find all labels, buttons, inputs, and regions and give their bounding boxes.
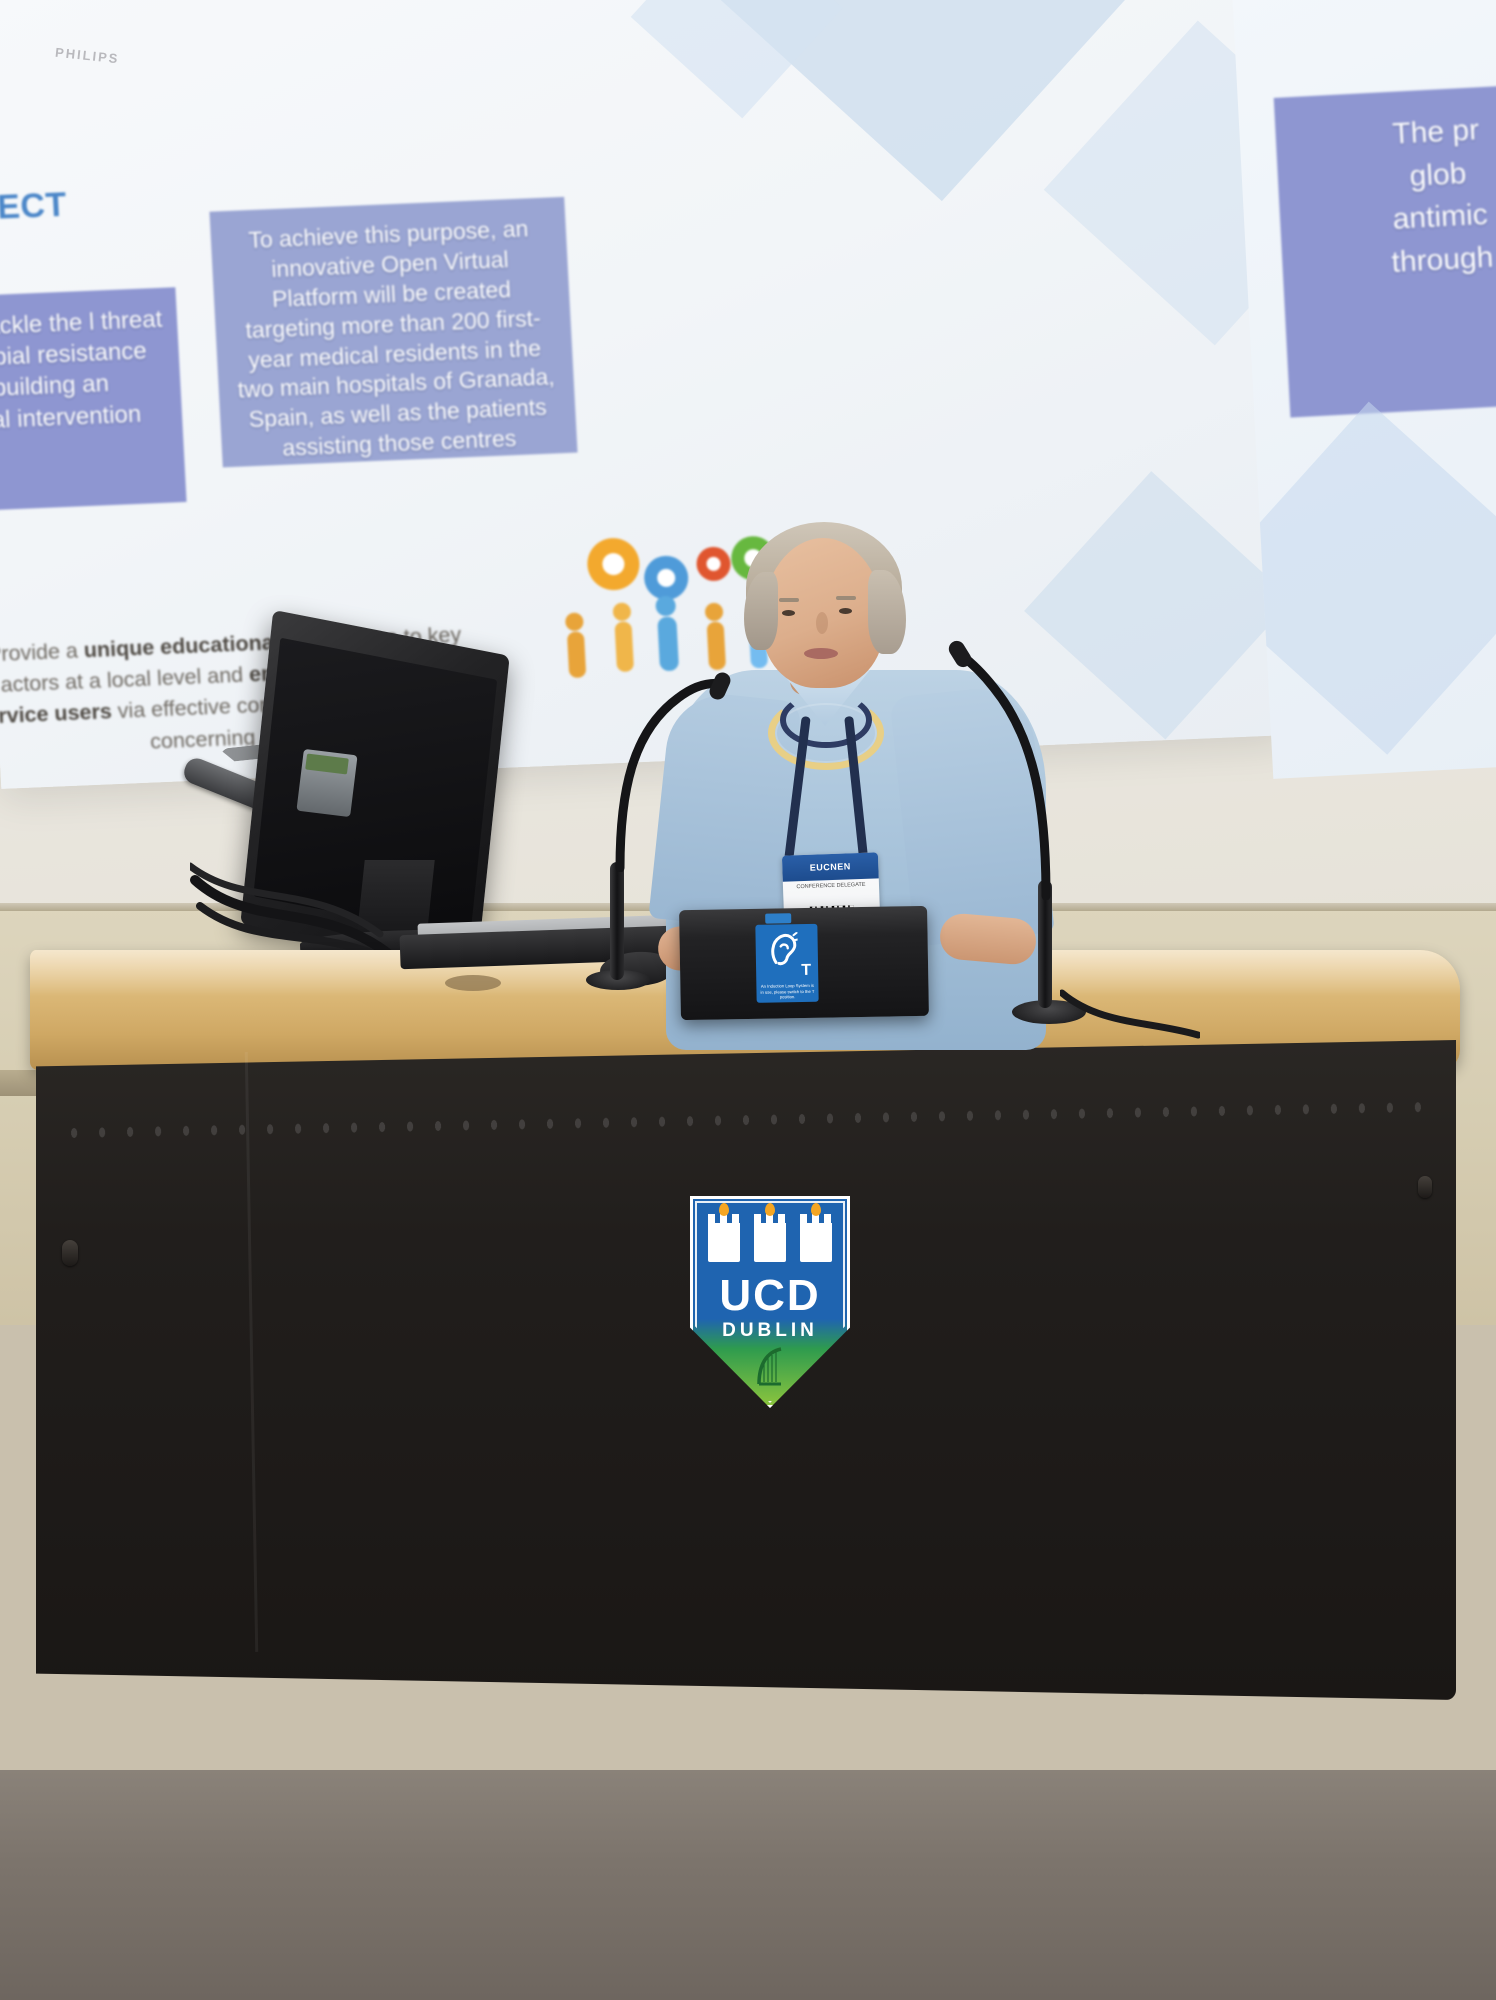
harp-icon [753, 1346, 787, 1386]
presenter-eye-left [782, 610, 795, 616]
flame-icon [719, 1203, 729, 1216]
crest-tower-left [708, 1214, 740, 1262]
floor [0, 1770, 1496, 2000]
crest-dublin-text: DUBLIN [690, 1320, 850, 1342]
hearing-loop-unit: T An Induction Loop System is in use, pl… [679, 906, 929, 1020]
flame-icon [765, 1203, 775, 1216]
slide-text-box-left: ect aims to tackle the l threat of growi… [0, 287, 187, 516]
presenter-mouth [804, 648, 838, 659]
slide-right-text-box: The pr glob antimic through [1274, 81, 1496, 417]
slide-right-decoration-diamond [1232, 402, 1496, 755]
presenter-necklace-dark [780, 692, 872, 748]
desk-cable-grommet [445, 975, 501, 991]
hearing-loop-caption: An Induction Loop System is in use, plea… [760, 983, 814, 1000]
badge-header: EUCNEN [782, 852, 879, 881]
microphone-gooseneck-left [612, 672, 732, 872]
presenter-nose [816, 612, 828, 634]
presenter-eye-right [839, 608, 852, 614]
microphone-gooseneck-right [950, 640, 1070, 900]
crest-towers-group [708, 1214, 832, 1268]
hearing-loop-sign: T An Induction Loop System is in use, pl… [755, 924, 818, 1003]
presenter-brow-left [779, 598, 799, 602]
ucd-crest-logo: UCD DUBLIN [690, 1196, 850, 1408]
projection-screen-right: p The pr glob antimic through [1232, 0, 1496, 779]
ear-icon [767, 932, 798, 967]
slide-text-box-middle: To achieve this purpose, an innovative O… [209, 197, 577, 468]
microphone-stem-left [610, 862, 624, 980]
hearing-loop-t-letter: T [801, 962, 811, 980]
crest-tower-right [800, 1214, 832, 1262]
presenter-brow-right [836, 596, 856, 600]
desk-door-handle-right[interactable] [1418, 1176, 1432, 1198]
flame-icon [811, 1203, 821, 1216]
slide-title: OJECT [0, 186, 68, 230]
screenshot-root: OJECT ect aims to tackle the l threat of… [0, 0, 1496, 2000]
bullet-text-pre: Provide a [0, 638, 84, 666]
desk-door-handle-left[interactable] [62, 1240, 78, 1266]
microphone-cable-right [1060, 985, 1200, 1045]
badge-name-line: CONFERENCE DELEGATE [787, 881, 875, 891]
crest-ucd-text: UCD [690, 1274, 850, 1318]
hearing-loop-top-sticker [765, 913, 791, 923]
presenter-hand-right [938, 912, 1038, 966]
crest-tower-center [754, 1214, 786, 1262]
